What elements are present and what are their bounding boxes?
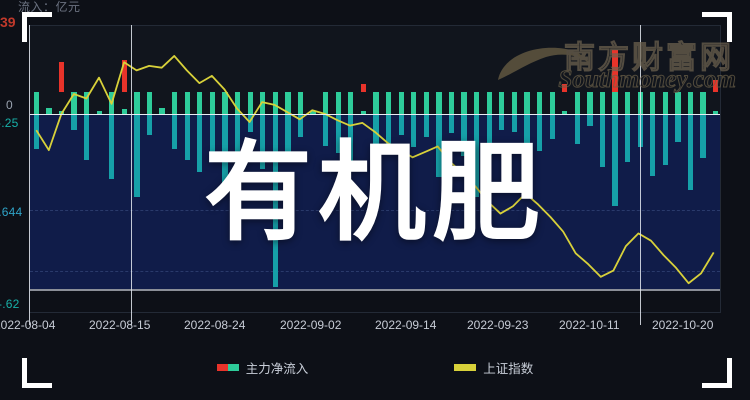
crop-corner-top-right[interactable]	[702, 12, 732, 42]
legend-swatch-sse-index-icon	[454, 364, 476, 371]
crop-corner-bottom-right[interactable]	[702, 358, 732, 388]
plot-footer-strip	[30, 290, 720, 312]
y-tick-0: 0	[6, 98, 13, 112]
x-tick-3: 2022-09-02	[280, 318, 341, 332]
index-polyline	[36, 56, 713, 283]
legend-swatch-net-inflow-icon	[217, 364, 239, 371]
plot-footer-rule	[30, 289, 720, 291]
legend-item-net-inflow[interactable]: 主力净流入	[217, 358, 309, 377]
crop-corner-top-left[interactable]	[22, 12, 52, 42]
crosshair-vertical-mid[interactable]	[131, 25, 132, 325]
x-tick-0: 2022-08-04	[0, 318, 55, 332]
index-line-series	[30, 26, 720, 313]
x-tick-2: 2022-08-24	[184, 318, 245, 332]
x-tick-6: 2022-10-11	[559, 318, 620, 332]
chart-screenshot: 流入：亿元 39 0 -.25 -.644 -.62 2022-08-04 20…	[0, 0, 750, 400]
metric-value: 39	[0, 14, 16, 30]
y-tick-1: -.25	[0, 116, 18, 130]
chart-plot-area[interactable]	[29, 25, 721, 313]
x-tick-4: 2022-09-14	[375, 318, 436, 332]
zero-axis-line	[29, 114, 721, 115]
x-tick-5: 2022-09-23	[467, 318, 528, 332]
legend-label-net-inflow: 主力净流入	[246, 358, 309, 377]
crop-corner-bottom-left[interactable]	[22, 358, 52, 388]
y-tick-2: -.644	[0, 205, 22, 219]
y-tick-3: -.62	[0, 297, 19, 311]
crosshair-vertical-right[interactable]	[640, 25, 641, 325]
legend-label-sse-index: 上证指数	[483, 358, 533, 377]
chart-legend: 主力净流入 上证指数	[0, 358, 750, 377]
x-tick-7: 2022-10-20	[652, 318, 713, 332]
legend-item-sse-index[interactable]: 上证指数	[454, 358, 533, 377]
x-tick-1: 2022-08-15	[89, 318, 150, 332]
crosshair-vertical-left[interactable]	[29, 25, 30, 325]
